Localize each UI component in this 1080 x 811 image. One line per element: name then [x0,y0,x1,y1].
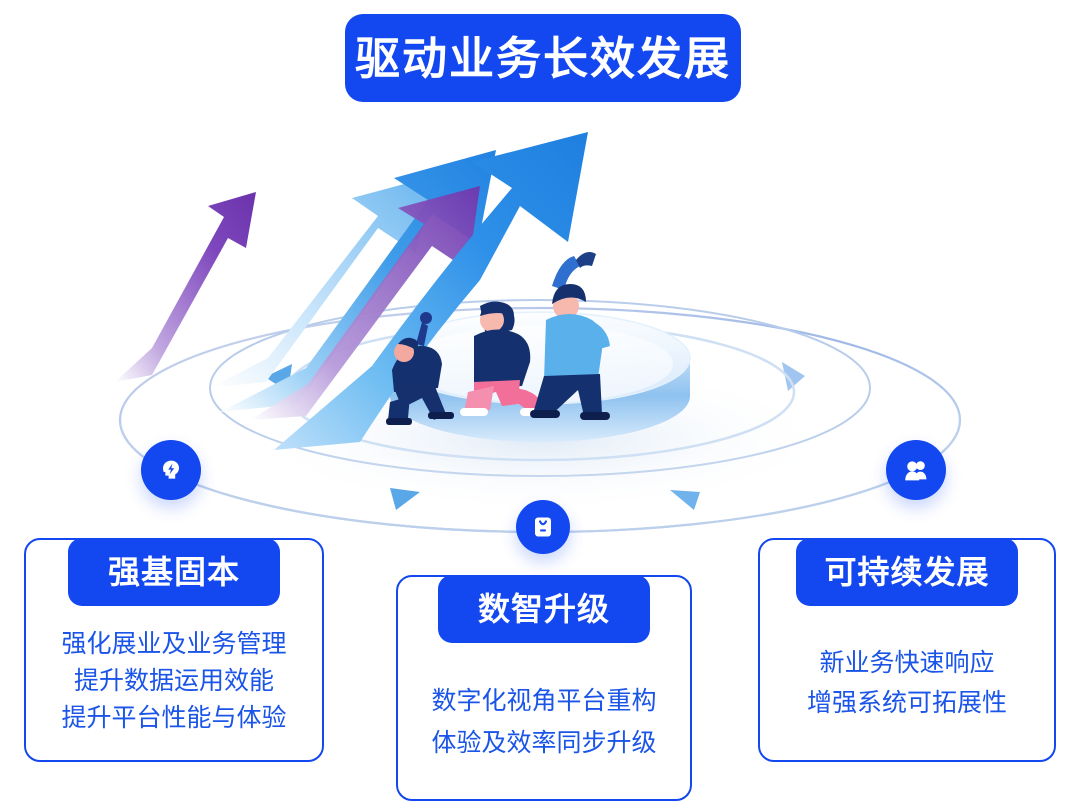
card-body: 数字化视角平台重构 体验及效率同步升级 [398,681,690,764]
badge-users[interactable] [886,440,946,500]
card-digital-upgrade[interactable]: 数智升级 数字化视角平台重构 体验及效率同步升级 [396,575,692,801]
card-body: 新业务快速响应 增强系统可拓展性 [760,644,1054,723]
card-line: 提升平台性能与体验 [61,700,286,737]
card-header-tab: 强基固本 [68,538,280,606]
card-sustainable-development[interactable]: 可持续发展 新业务快速响应 增强系统可拓展性 [758,538,1056,762]
card-body: 强化展业及业务管理 提升数据运用效能 提升平台性能与体验 [26,626,322,737]
badge-brain-idea[interactable] [141,440,201,500]
card-strong-foundation[interactable]: 强基固本 强化展业及业务管理 提升数据运用效能 提升平台性能与体验 [24,538,324,762]
card-title: 强基固本 [108,556,240,588]
infographic-canvas: 驱动业务长效发展 [0,0,1080,811]
main-title-pill: 驱动业务长效发展 [345,14,741,102]
card-line: 数字化视角平台重构 [431,681,656,723]
card-title: 可持续发展 [824,556,989,588]
card-line: 强化展业及业务管理 [61,626,286,663]
card-line: 新业务快速响应 [819,644,994,684]
page-title: 驱动业务长效发展 [355,36,731,81]
card-header-tab: 数智升级 [438,575,650,643]
growth-illustration [60,120,1020,540]
card-title: 数智升级 [478,593,610,625]
card-header-tab: 可持续发展 [796,538,1018,606]
card-line: 体验及效率同步升级 [431,723,656,765]
card-line: 提升数据运用效能 [74,663,274,700]
users-icon [902,456,930,484]
card-line: 增强系统可拓展性 [807,684,1007,724]
data-storage-icon [531,515,555,539]
brain-lightning-icon [157,456,185,484]
badge-data-storage[interactable] [516,500,570,554]
